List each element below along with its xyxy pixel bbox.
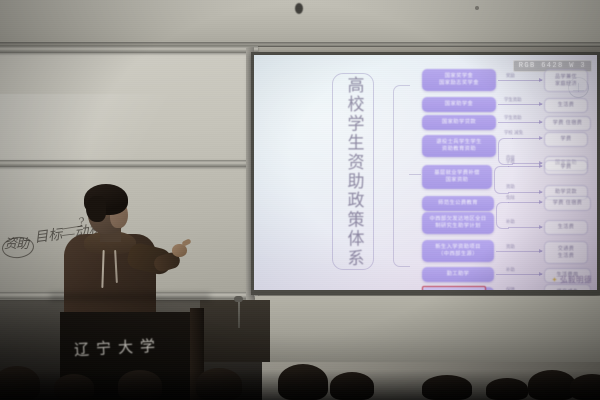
ceiling-sensor-icon xyxy=(475,6,479,10)
audience-shadow xyxy=(0,370,600,400)
whiteboard-rail xyxy=(0,160,258,167)
classroom-photo: 资助 目标—动机 ? RGB 6428 W 3 高校学生资助政策体系 国家奖学金… xyxy=(0,0,600,400)
microphone-stand xyxy=(238,300,240,328)
presenter xyxy=(62,176,180,310)
podium-top xyxy=(56,296,200,313)
whiteboard-note: 资助 xyxy=(4,233,28,252)
ceiling-speaker-icon xyxy=(295,3,303,14)
whiteboard-rail xyxy=(0,46,258,53)
projection-screen: RGB 6428 W 3 高校学生资助政策体系 国家奖学金国家励志奖学金 奖励 … xyxy=(254,55,597,290)
screen-vignette xyxy=(254,55,597,290)
audience-row xyxy=(0,352,600,400)
microphone-icon xyxy=(234,296,243,302)
presenter-hair-side xyxy=(86,196,106,222)
